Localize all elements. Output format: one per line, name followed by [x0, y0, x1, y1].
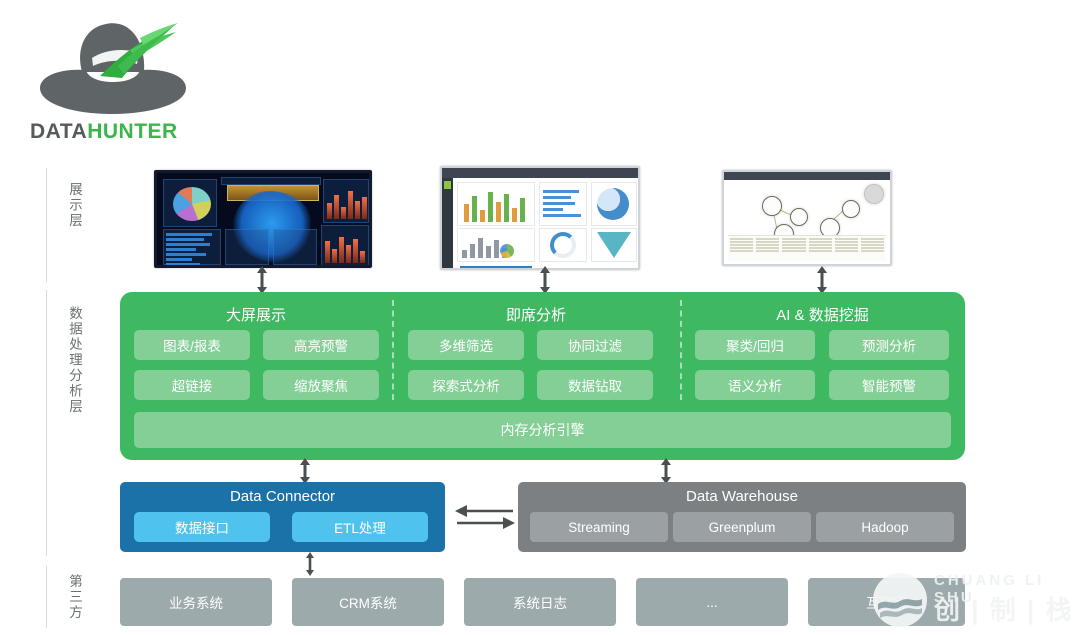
- chip-semantic[interactable]: 语义分析: [695, 370, 815, 400]
- chip-greenplum[interactable]: Greenplum: [673, 512, 811, 542]
- data-processing-panel: 大屏展示 图表/报表 高亮预警 超链接 缩放聚焦 即席分析 多维筛选 协同过滤 …: [120, 292, 965, 460]
- watermark: CHUANG LI SHU 创 | 制 | 栈: [872, 566, 1080, 634]
- chip-cluster-regression[interactable]: 聚类/回归: [695, 330, 815, 360]
- data-connector-panel: Data Connector 数据接口 ETL处理: [120, 482, 445, 552]
- diagram-canvas: DATAHUNTER 展示层 数据处理分析层 第三方: [0, 0, 1080, 635]
- thumbnail-graph-analysis[interactable]: [722, 170, 892, 266]
- arrow-display-to-processing-2: [537, 266, 553, 294]
- chip-charts-reports[interactable]: 图表/报表: [134, 330, 250, 360]
- third-party-system-logs[interactable]: 系统日志: [464, 578, 616, 626]
- arrow-connector-warehouse-bidirectional: [455, 503, 515, 531]
- chip-exploratory[interactable]: 探索式分析: [408, 370, 524, 400]
- layer-label-processing: 数据处理分析层: [48, 306, 82, 415]
- chip-smart-alert[interactable]: 智能预警: [829, 370, 949, 400]
- third-party-more[interactable]: ...: [636, 578, 788, 626]
- hat-with-feather-icon: [26, 10, 201, 120]
- layer-rail-processing: 数据处理分析层: [48, 292, 118, 462]
- data-warehouse-title: Data Warehouse: [518, 488, 966, 505]
- chip-streaming[interactable]: Streaming: [530, 512, 668, 542]
- column-title-ad-hoc: 即席分析: [392, 304, 680, 325]
- thumbnail-bi-dashboard[interactable]: [440, 166, 640, 270]
- column-title-ai-mining: AI & 数据挖掘: [680, 304, 965, 325]
- brand-logo: DATAHUNTER: [18, 8, 208, 158]
- chip-multi-dim-filter[interactable]: 多维筛选: [408, 330, 524, 360]
- arrow-display-to-processing-1: [254, 266, 270, 294]
- wave-circle-icon: [872, 572, 928, 628]
- chip-collab-filter[interactable]: 协同过滤: [537, 330, 653, 360]
- data-connector-title: Data Connector: [120, 488, 445, 505]
- chip-predictive[interactable]: 预测分析: [829, 330, 949, 360]
- chip-etl-processing[interactable]: ETL处理: [292, 512, 428, 542]
- rail-divider-2: [46, 290, 47, 556]
- watermark-text-cn: 创 | 制 | 栈: [934, 590, 1073, 627]
- chip-data-drill[interactable]: 数据钻取: [537, 370, 653, 400]
- arrow-engine-to-connector: [297, 458, 313, 484]
- chip-hyperlink[interactable]: 超链接: [134, 370, 250, 400]
- arrow-connector-to-third-party: [303, 552, 317, 576]
- column-title-big-screen: 大屏展示: [120, 304, 392, 325]
- thumbnail-big-screen-dashboard[interactable]: [154, 170, 372, 268]
- chip-highlight-alert[interactable]: 高亮预警: [263, 330, 379, 360]
- rail-divider-1: [46, 168, 47, 282]
- layer-rail-third-party: 第三方: [48, 566, 118, 630]
- logo-text-hunter: HUNTER: [87, 120, 178, 143]
- logo-wordmark: DATAHUNTER: [30, 120, 178, 144]
- third-party-crm-system[interactable]: CRM系统: [292, 578, 444, 626]
- in-memory-engine-bar[interactable]: 内存分析引擎: [134, 412, 951, 448]
- rail-divider-3: [46, 566, 47, 628]
- chip-data-interface[interactable]: 数据接口: [134, 512, 270, 542]
- third-party-business-system[interactable]: 业务系统: [120, 578, 272, 626]
- chip-zoom-focus[interactable]: 缩放聚焦: [263, 370, 379, 400]
- arrow-engine-to-warehouse: [658, 458, 674, 484]
- arrow-display-to-processing-3: [814, 266, 830, 294]
- logo-text-data: DATA: [30, 120, 87, 143]
- layer-label-third-party: 第三方: [48, 574, 82, 621]
- chip-hadoop[interactable]: Hadoop: [816, 512, 954, 542]
- layer-label-display: 展示层: [48, 182, 82, 229]
- data-warehouse-panel: Data Warehouse Streaming Greenplum Hadoo…: [518, 482, 966, 552]
- layer-rail-display: 展示层: [48, 170, 118, 280]
